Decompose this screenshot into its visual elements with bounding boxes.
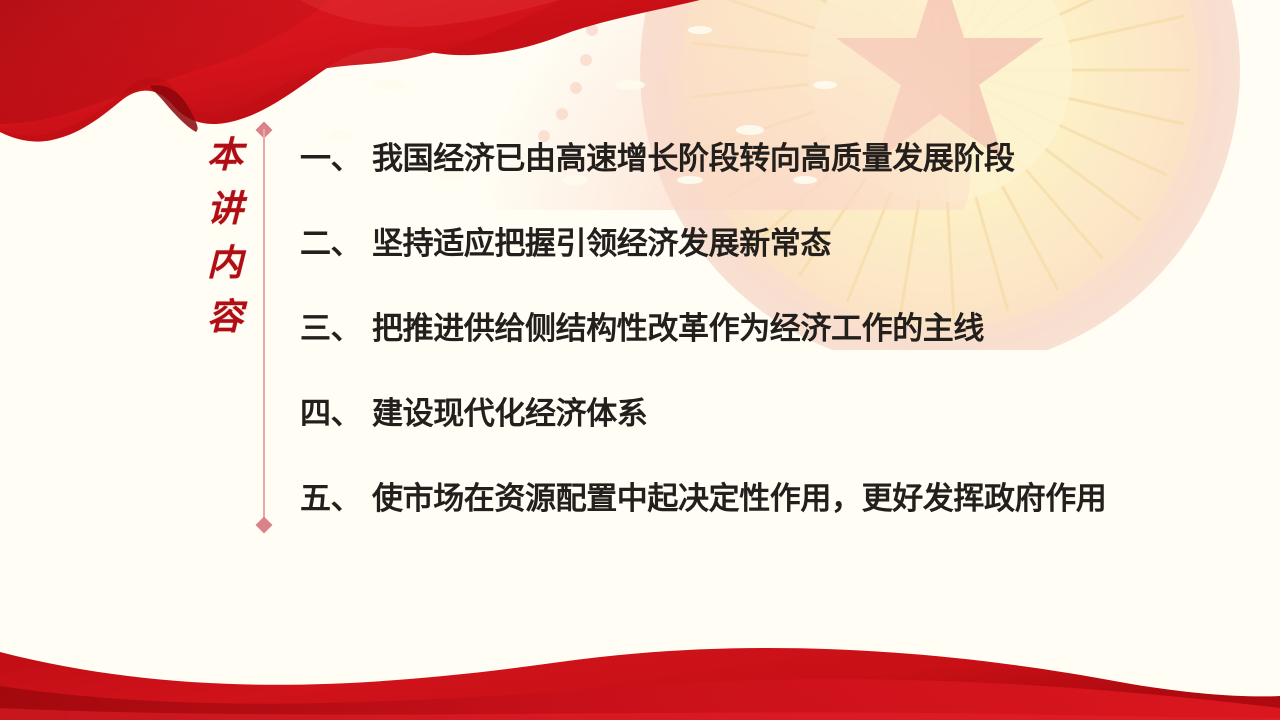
vertical-title-char-1: 本 bbox=[196, 128, 254, 182]
outline-item-5[interactable]: 五、 使市场在资源配置中起决定性作用，更好发挥政府作用 bbox=[300, 477, 1260, 562]
outline-item-2[interactable]: 二、 坚持适应把握引领经济发展新常态 bbox=[300, 222, 1260, 307]
outline-text-3: 把推进供给侧结构性改革作为经济工作的主线 bbox=[372, 307, 984, 351]
outline-list: 一、 我国经济已由高速增长阶段转向高质量发展阶段 二、 坚持适应把握引领经济发展… bbox=[300, 137, 1260, 562]
outline-text-4: 建设现代化经济体系 bbox=[372, 392, 647, 436]
vertical-divider bbox=[263, 129, 265, 525]
outline-item-4[interactable]: 四、 建设现代化经济体系 bbox=[300, 392, 1260, 477]
outline-marker-4: 四、 bbox=[300, 392, 372, 436]
slide-content: 本 讲 内 容 一、 我国经济已由高速增长阶段转向高质量发展阶段 二、 坚持适应… bbox=[0, 0, 1280, 720]
outline-text-5: 使市场在资源配置中起决定性作用，更好发挥政府作用 bbox=[372, 477, 1106, 521]
outline-text-1: 我国经济已由高速增长阶段转向高质量发展阶段 bbox=[372, 137, 1015, 181]
outline-text-2: 坚持适应把握引领经济发展新常态 bbox=[372, 222, 831, 266]
presentation-slide: 本 讲 内 容 一、 我国经济已由高速增长阶段转向高质量发展阶段 二、 坚持适应… bbox=[0, 0, 1280, 720]
divider-diamond-bottom-icon bbox=[256, 517, 273, 534]
vertical-title-char-3: 内 bbox=[196, 236, 254, 290]
outline-marker-2: 二、 bbox=[300, 222, 372, 266]
vertical-title-char-2: 讲 bbox=[196, 182, 254, 236]
outline-marker-3: 三、 bbox=[300, 307, 372, 351]
outline-marker-5: 五、 bbox=[300, 477, 372, 521]
outline-marker-1: 一、 bbox=[300, 137, 372, 181]
vertical-title-char-4: 容 bbox=[196, 290, 254, 344]
outline-item-1[interactable]: 一、 我国经济已由高速增长阶段转向高质量发展阶段 bbox=[300, 137, 1260, 222]
outline-item-3[interactable]: 三、 把推进供给侧结构性改革作为经济工作的主线 bbox=[300, 307, 1260, 392]
vertical-section-title: 本 讲 内 容 bbox=[196, 128, 254, 344]
